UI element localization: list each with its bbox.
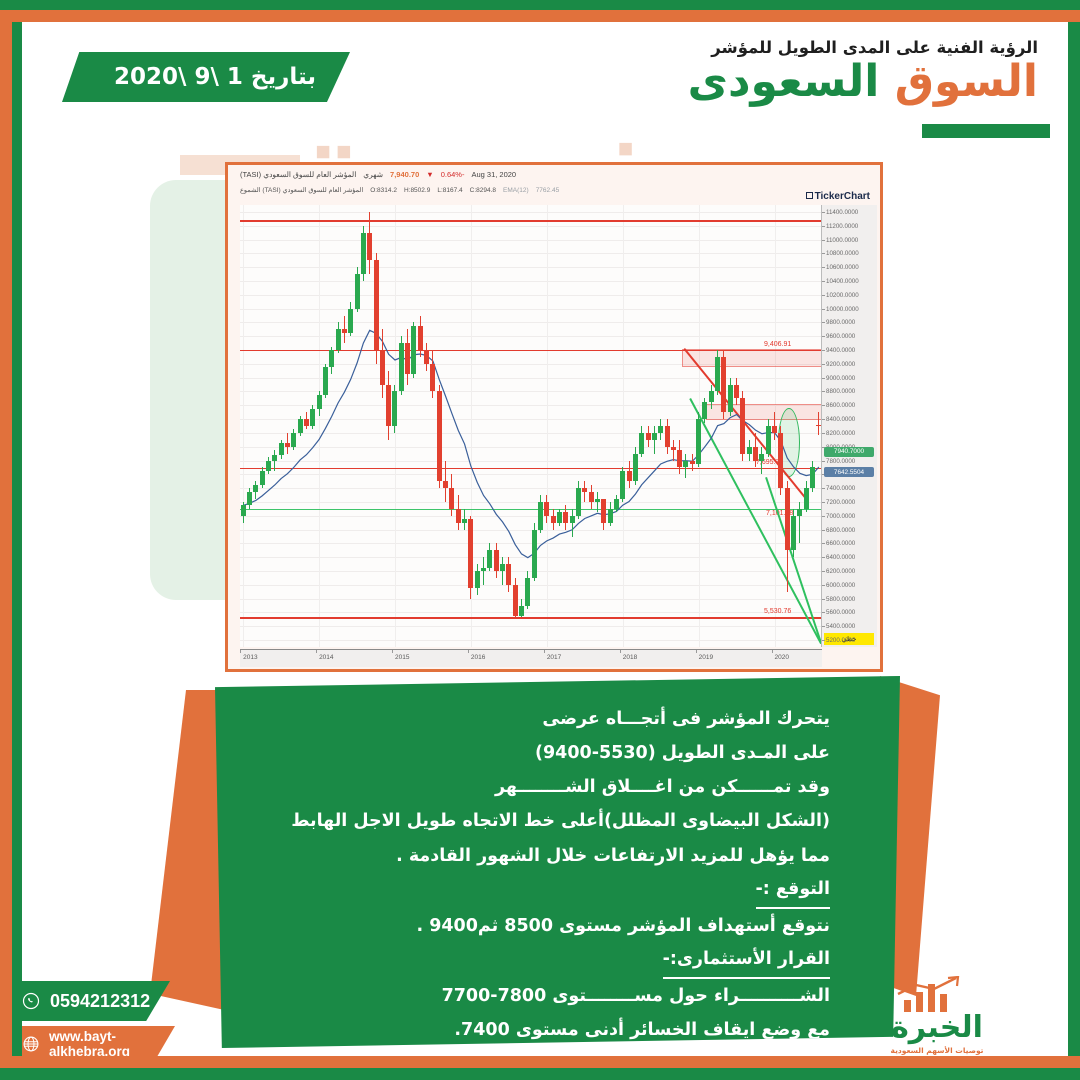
brand-name: الخبرة [852,1013,1022,1043]
header-subtitle: الرؤية الفنية على المدى الطويل للمؤشر [688,38,1038,57]
price-axis-tick: 9200.0000 [826,361,855,368]
price-axis-tick: 10600.0000 [826,264,859,271]
price-axis-tick: 10200.0000 [826,292,859,299]
decision-line: الشــــــــــراء حول مســــــــتوى 7800-… [255,979,830,1013]
price-axis-tick: 6600.0000 [826,540,855,547]
chart-low: L:8167.4 [437,187,462,194]
forecast-text: نتوقع أستهداف المؤشر مستوى 8500 ثم9400 . [255,909,830,943]
price-axis-tick: 6800.0000 [826,527,855,534]
tickerchart-label: TickerChart [815,191,870,202]
price-axis-tick: 9800.0000 [826,319,855,326]
price-axis-tick: 9000.0000 [826,375,855,382]
chart-open: O:8314.2 [370,187,397,194]
frame-left-orange [0,22,12,1056]
price-axis-tick: 11000.0000 [826,237,858,244]
ema-line [240,205,822,647]
frame-bottom-green [0,1068,1080,1080]
price-axis-tick: 6400.0000 [826,554,855,561]
phone-number: 0594212312 [50,991,150,1012]
tickerchart-logo: TickerChart [806,191,870,202]
chart-ema-value: 7762.45 [536,187,560,194]
brand-arrow-icon [896,976,962,996]
brand-logo: الخبرة توصيات الأسهم السعودية [852,982,1022,1062]
forecast-heading: التوقع :- [756,873,830,909]
analysis-line: وقد تمــــــكن من اغــــلاق الشــــــــه… [255,770,830,804]
page-title-part-2: السعودى [688,56,880,107]
header-accent-tab [922,124,1050,138]
time-axis-tick: 2016 [471,654,485,661]
chart-time-axis[interactable]: 20132014201520162017201820192020 [240,649,822,667]
price-axis-tick: 5200.0000 [826,637,855,644]
price-axis-tick: 10000.0000 [826,306,859,313]
page-title: السوق السعودى [688,59,1038,105]
time-axis-tick: 2013 [243,654,257,661]
price-axis-tick: 7000.0000 [826,513,855,520]
chart-change-pct: -0.64% [441,170,465,179]
chart-card: Aug 31, 2020 -0.64% ▼ 7,940.70 شهري المؤ… [225,162,883,672]
time-axis-tick: 2015 [395,654,409,661]
header-title-group: الرؤية الفنية على المدى الطويل للمؤشر ال… [688,38,1038,105]
last-price-tag: 7940.7000 [824,447,874,457]
date-badge: بتاريخ 1 \9 \2020 [62,52,350,102]
chart-direction-arrow-icon: ▼ [426,170,433,179]
contact-phone[interactable]: 0594212312 [0,981,170,1021]
price-axis-tick: 5400.0000 [826,623,855,630]
frame-top-green [0,0,1080,10]
brand-tagline: توصيات الأسهم السعودية [852,1046,1022,1055]
chart-plot-area[interactable]: 9,406.917,695.727,101.685,530.76 [240,205,822,647]
globe-icon [22,1035,40,1053]
price-axis-tick: 9600.0000 [826,333,855,340]
price-axis-tick: 6000.0000 [826,582,855,589]
website-url: www.bayt-alkhebra.org [49,1029,175,1059]
chart-series-name: المؤشر العام للسوق السعودي (TASI) الشموع [240,186,363,194]
chart-price-axis[interactable]: خطي 11400.000011200.000011000.000010800.… [821,205,877,647]
time-axis-tick: 2020 [775,654,789,661]
price-axis-tick: 10400.0000 [826,278,859,285]
price-axis-tick: 7200.0000 [826,499,855,506]
price-axis-tick: 8600.0000 [826,402,855,409]
time-axis-tick: 2018 [623,654,637,661]
time-axis-tick: 2017 [547,654,561,661]
price-axis-tick: 9400.0000 [826,347,855,354]
price-axis-tick: 5600.0000 [826,609,855,616]
ema-price-tag: 7642.5504 [824,467,874,477]
analysis-line: (الشكل البيضاوى المظلل)أعلى خط الاتجاه ط… [255,804,830,838]
price-axis-tick: 7800.0000 [826,458,855,465]
chart-timeframe: شهري [363,170,383,179]
analysis-line: يتحرك المؤشر فى أتجـــاه عرضى [255,702,830,736]
price-axis-tick: 5800.0000 [826,596,855,603]
tickerchart-mark-icon [806,192,813,199]
page-title-part-1: السوق [895,56,1038,107]
analysis-line: مما يؤهل للمزيد الارتفاعات خلال الشهور ا… [255,839,830,873]
frame-bottom-orange [0,1056,1080,1068]
price-axis-tick: 8400.0000 [826,416,855,423]
price-axis-tick: 6200.0000 [826,568,855,575]
analysis-line: على المـدى الطويل (5530-9400) [255,736,830,770]
chart-last-price: 7,940.70 [390,170,419,179]
chart-high: H:8502.9 [404,187,430,194]
chart-instrument-name: المؤشر العام للسوق السعودي (TASI) [240,170,356,179]
decision-heading: القرار الأستثمارى:- [663,943,830,979]
price-axis-tick: 8800.0000 [826,388,855,395]
frame-top-orange [0,10,1080,22]
time-axis-tick: 2019 [699,654,713,661]
whatsapp-icon [22,992,40,1010]
chart-close: C:8294.8 [470,187,496,194]
price-axis-tick: 8200.0000 [826,430,855,437]
price-axis-tick: 11400.0000 [826,209,858,216]
decision-line: مع وضع ايقاف الخسائر أدنى مستوى 7400. [255,1013,830,1047]
chart-ema-label: EMA(12) [503,187,529,194]
price-axis-tick: 10800.0000 [826,250,859,257]
frame-left-green [12,22,22,1056]
frame-right-green [1068,22,1080,1056]
analysis-panel: يتحرك المؤشر فى أتجـــاه عرضى على المـدى… [215,676,900,1048]
time-axis-tick: 2014 [319,654,333,661]
chart-date: Aug 31, 2020 [471,170,516,179]
chart-header: Aug 31, 2020 -0.64% ▼ 7,940.70 شهري المؤ… [228,165,880,205]
price-axis-tick: 7400.0000 [826,485,855,492]
brand-mark-icon [852,982,1022,1012]
price-axis-tick: 11200.0000 [826,223,858,230]
